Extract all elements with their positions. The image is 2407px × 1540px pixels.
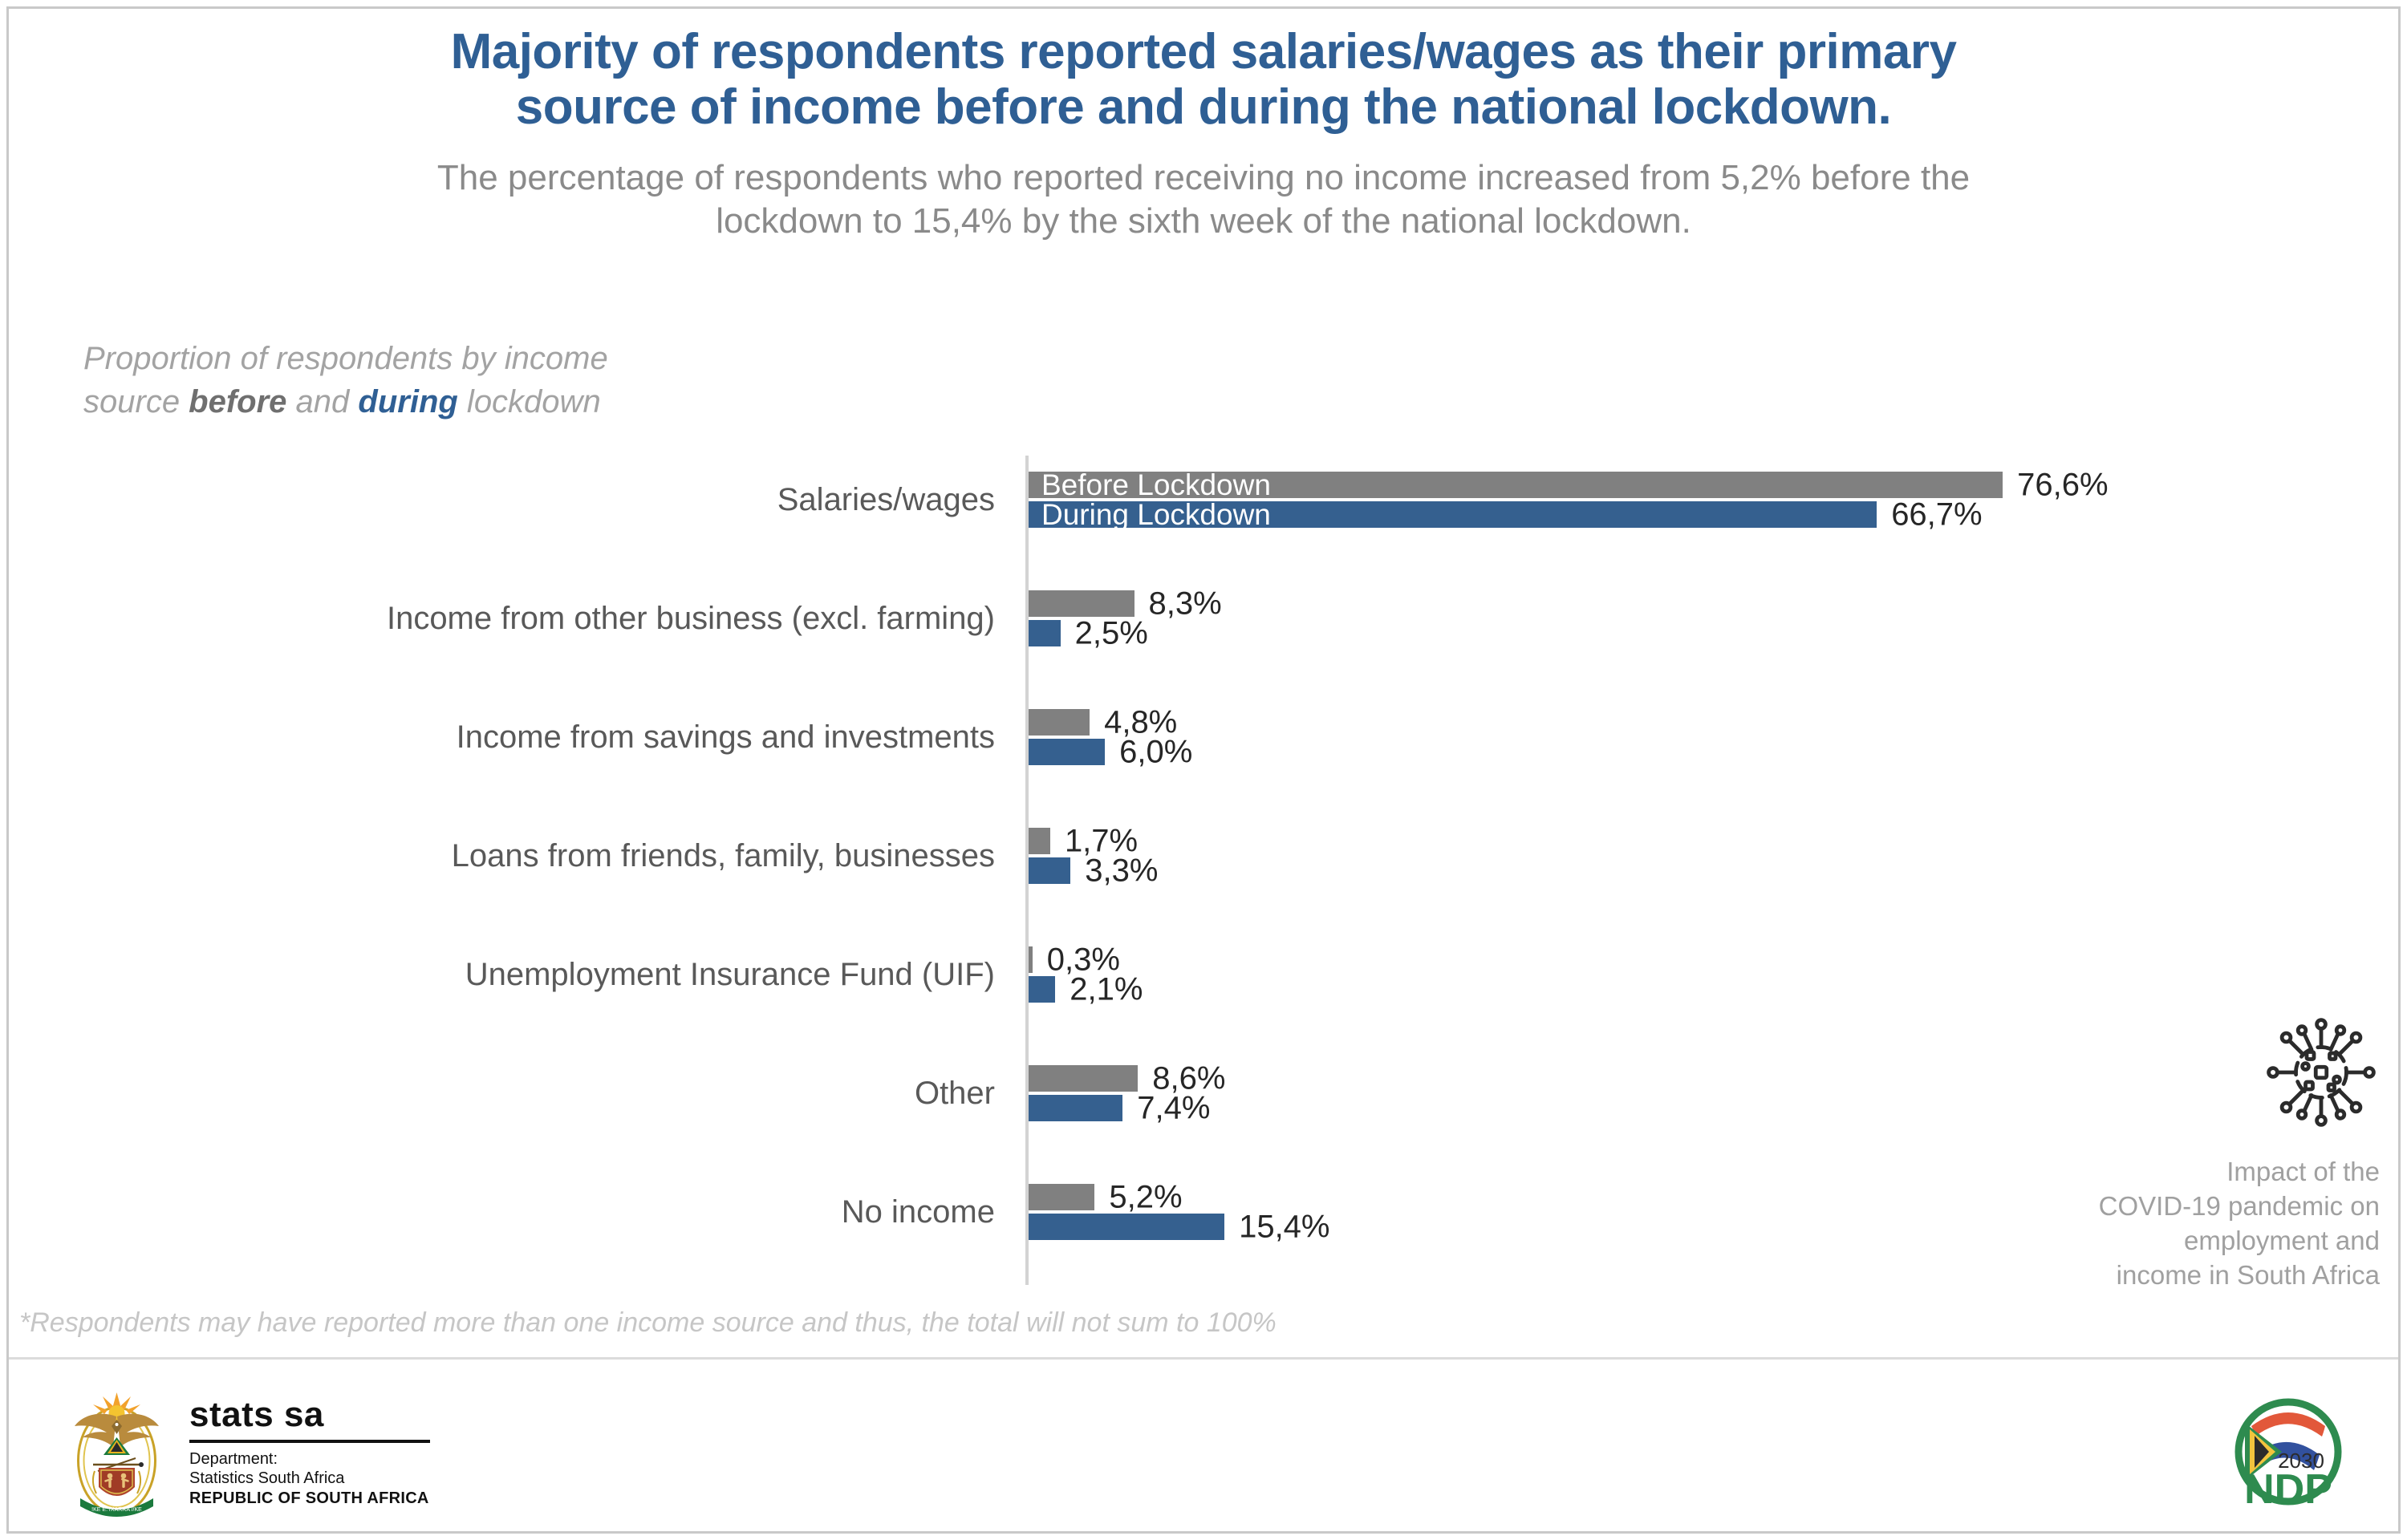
statssa-logo: !KE E: /XARRA //KE stats sa Department: … <box>63 1384 512 1521</box>
caption-lockdown-word: lockdown <box>458 384 601 419</box>
chart-caption-line-1: Proportion of respondents by income <box>83 337 886 380</box>
statssa-wordmark-block: stats sa Department: Statistics South Af… <box>189 1397 510 1508</box>
statssa-name-line: Statistics South Africa <box>189 1469 510 1488</box>
chart-bar-row: 1,7% <box>1029 828 2232 854</box>
side-caption-line-3: employment and <box>2027 1224 2380 1258</box>
chart-category-label: Income from other business (excl. farmin… <box>48 602 995 634</box>
title-line-2: source of income before and during the n… <box>241 79 2166 135</box>
infographic-canvas: Majority of respondents reported salarie… <box>0 0 2407 1540</box>
chart-category-label: Loans from friends, family, businesses <box>48 840 995 872</box>
bar-during-lockdown[interactable] <box>1029 1214 1224 1240</box>
chart-bar-row: 0,3% <box>1029 946 2232 973</box>
chart-value-label: 76,6% <box>2017 467 2108 503</box>
chart-caption-line-2: source before and during lockdown <box>83 380 886 423</box>
chart-category-label: Income from savings and investments <box>48 721 995 753</box>
chart-value-label: 3,3% <box>1085 853 1158 889</box>
caption-source-word: source <box>83 384 189 419</box>
chart-footnote: *Respondents may have reported more than… <box>19 1307 1277 1339</box>
chart-bar-row: 8,3% <box>1029 590 2232 617</box>
bar-during-lockdown[interactable] <box>1029 976 1055 1003</box>
side-caption-line-2: COVID-19 pandemic on <box>2027 1189 2380 1224</box>
chart-value-label: 8,3% <box>1149 586 1222 622</box>
chart-bar-row: 8,6% <box>1029 1065 2232 1092</box>
chart-value-label: 66,7% <box>1891 496 1982 533</box>
page-subtitle: The percentage of respondents who report… <box>0 156 2407 242</box>
side-caption-line-1: Impact of the <box>2027 1155 2380 1189</box>
chart-bar-row: Before Lockdown76,6% <box>1029 472 2232 498</box>
chart-category-label: Other <box>48 1077 995 1109</box>
chart-bar-row: 2,1% <box>1029 976 2232 1003</box>
bar-before-lockdown[interactable] <box>1029 709 1090 736</box>
title-line-1: Majority of respondents reported salarie… <box>241 24 2166 79</box>
legend-before-lockdown: Before Lockdown <box>1041 468 1271 502</box>
statssa-department-line: Department: <box>189 1449 510 1469</box>
bar-before-lockdown[interactable] <box>1029 946 1033 973</box>
legend-during-lockdown: During Lockdown <box>1041 498 1271 532</box>
bar-during-lockdown[interactable] <box>1029 739 1105 765</box>
ndp-word-text: NDP <box>2244 1466 2332 1513</box>
page-title: Majority of respondents reported salarie… <box>0 24 2407 136</box>
caption-during-word: during <box>358 384 457 419</box>
chart-bar-row: 4,8% <box>1029 709 2232 736</box>
bar-during-lockdown[interactable]: During Lockdown <box>1029 501 1877 528</box>
chart-bar-row: 6,0% <box>1029 739 2232 765</box>
chart-value-label: 7,4% <box>1137 1090 1210 1126</box>
header: Majority of respondents reported salarie… <box>0 24 2407 242</box>
side-caption-line-4: income in South Africa <box>2027 1258 2380 1293</box>
caption-and-word: and <box>286 384 358 419</box>
chart-category-label: Unemployment Insurance Fund (UIF) <box>48 958 995 991</box>
statssa-wordmark: stats sa <box>189 1397 510 1433</box>
statssa-rule <box>189 1440 430 1443</box>
bar-before-lockdown[interactable] <box>1029 1184 1094 1210</box>
chart-bar-row: 2,5% <box>1029 620 2232 646</box>
chart-bar-row: 3,3% <box>1029 857 2232 884</box>
side-panel-caption: Impact of the COVID-19 pandemic on emplo… <box>2027 1155 2380 1293</box>
ndp-2030-logo: 2030 NDP <box>2222 1394 2355 1514</box>
bar-during-lockdown[interactable] <box>1029 857 1070 884</box>
subtitle-line-1: The percentage of respondents who report… <box>305 156 2102 200</box>
caption-before-word: before <box>189 384 286 419</box>
chart-value-label: 2,5% <box>1075 615 1148 651</box>
bar-before-lockdown[interactable]: Before Lockdown <box>1029 472 2003 498</box>
chart-category-label: Salaries/wages <box>48 484 995 516</box>
statssa-country-line: REPUBLIC OF SOUTH AFRICA <box>189 1489 510 1508</box>
chart-value-label: 2,1% <box>1070 971 1143 1007</box>
chart-caption: Proportion of respondents by income sour… <box>83 337 886 424</box>
south-africa-coat-of-arms-icon: !KE E: /XARRA //KE <box>63 1384 171 1521</box>
footer-divider <box>9 1357 2398 1360</box>
chart-bar-row: 7,4% <box>1029 1095 2232 1121</box>
chart-value-label: 15,4% <box>1239 1209 1329 1245</box>
bar-during-lockdown[interactable] <box>1029 1095 1122 1121</box>
chart-category-label: No income <box>48 1196 995 1228</box>
chart-bar-row: During Lockdown66,7% <box>1029 501 2232 528</box>
coronavirus-icon <box>2261 1012 2381 1133</box>
chart-value-label: 5,2% <box>1109 1179 1182 1215</box>
chart-value-label: 6,0% <box>1119 734 1192 770</box>
bar-before-lockdown[interactable] <box>1029 590 1134 617</box>
svg-text:!KE E: /XARRA //KE: !KE E: /XARRA //KE <box>91 1507 142 1513</box>
bar-before-lockdown[interactable] <box>1029 1065 1138 1092</box>
bar-before-lockdown[interactable] <box>1029 828 1050 854</box>
bar-during-lockdown[interactable] <box>1029 620 1061 646</box>
subtitle-line-2: lockdown to 15,4% by the sixth week of t… <box>305 200 2102 243</box>
